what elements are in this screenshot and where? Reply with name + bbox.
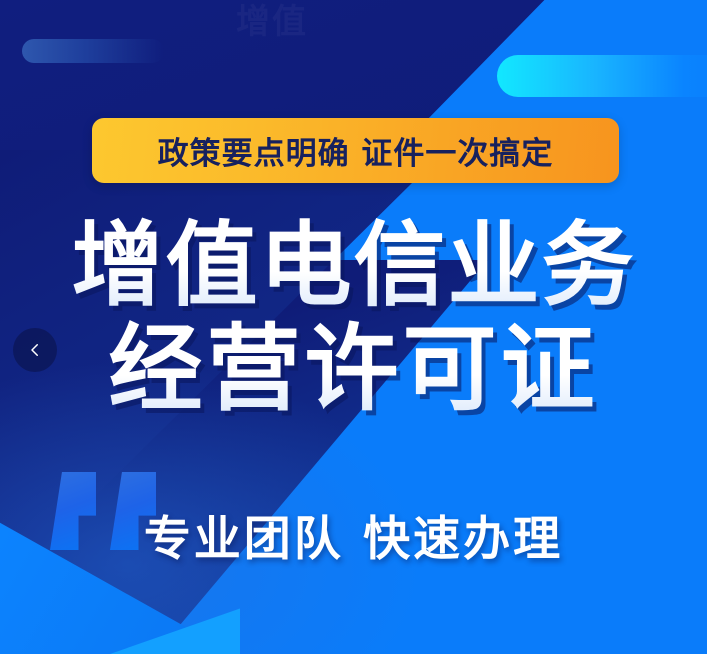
chevron-left-icon — [26, 341, 44, 359]
promo-banner: 增值 政策要点明确 证件一次搞定 增值电信业务 经营许可证 专业团队 快速办理 — [0, 0, 707, 654]
headline-line-2: 经营许可证 — [0, 318, 707, 422]
subtitle-ribbon-text: 政策要点明确 证件一次搞定 — [158, 128, 554, 173]
decor-pill-left — [22, 39, 164, 63]
carousel-prev-button[interactable] — [13, 328, 57, 372]
tagline-text: 专业团队 快速办理 — [0, 500, 707, 569]
watermark-text: 增值 — [236, 0, 308, 43]
subtitle-ribbon: 政策要点明确 证件一次搞定 — [92, 118, 619, 183]
headline-block: 增值电信业务 经营许可证 — [0, 214, 707, 422]
decor-pill-cyan — [497, 55, 707, 97]
headline-line-1: 增值电信业务 — [0, 214, 707, 318]
